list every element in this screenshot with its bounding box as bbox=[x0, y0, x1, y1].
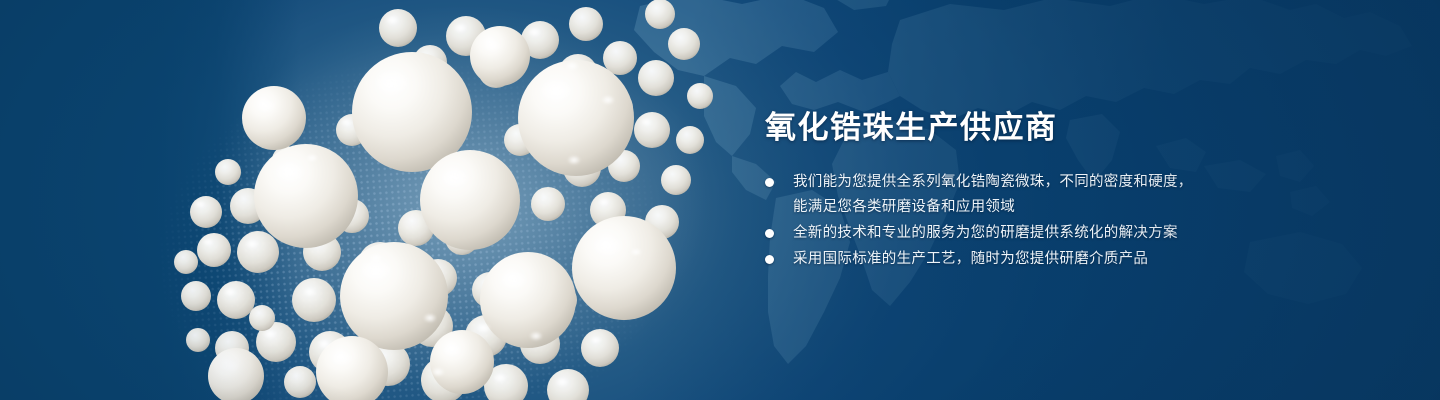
hero-banner: 氧化锆珠生产供应商 我们能为您提供全系列氧化锆陶瓷微珠，不同的密度和硬度， 能满… bbox=[0, 0, 1440, 400]
background-vignette bbox=[0, 0, 1440, 400]
